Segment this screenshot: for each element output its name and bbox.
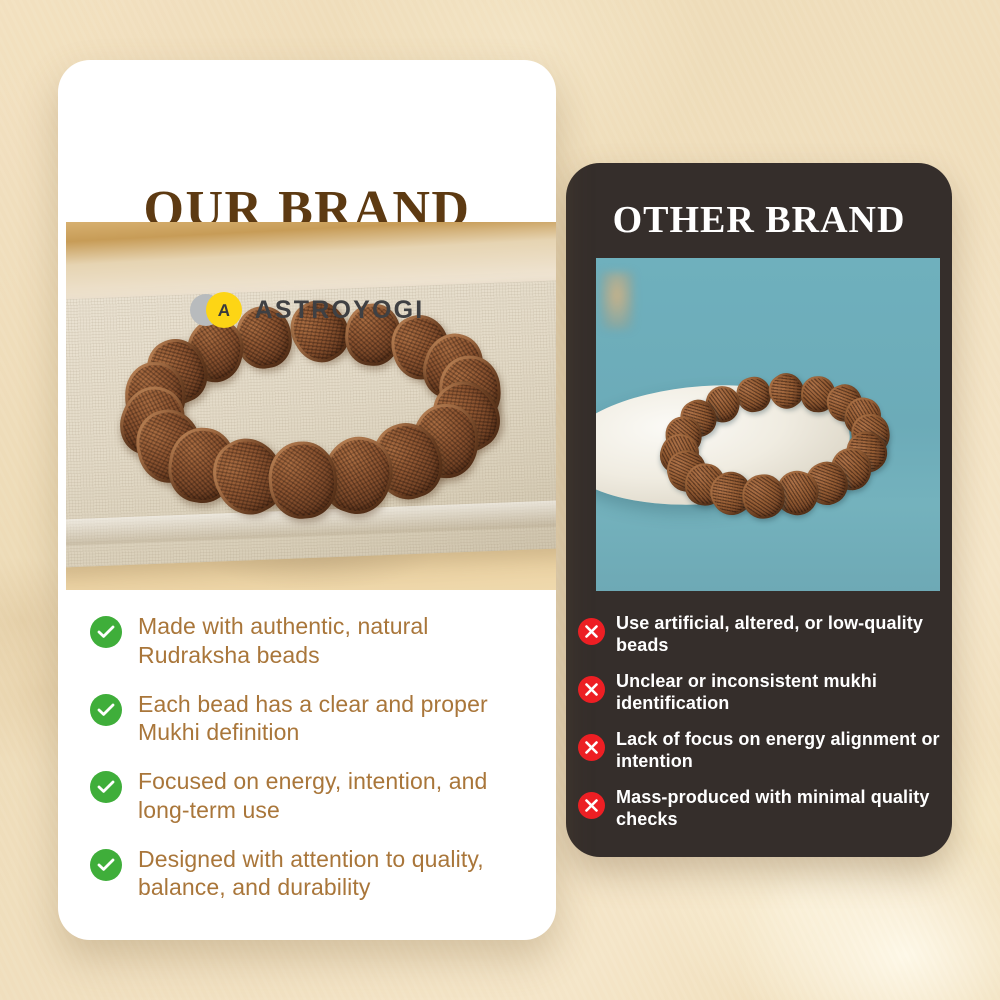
- blurred-background-object: [600, 272, 634, 330]
- other-brand-list-item-label: Mass-produced with minimal quality check…: [616, 787, 944, 831]
- our-brand-list-item-label: Focused on energy, intention, and long-t…: [138, 767, 542, 825]
- cross-icon: [578, 792, 605, 819]
- astroyogi-wordmark: ASTROYOGI: [255, 296, 425, 325]
- other-brand-list-item: Lack of focus on energy alignment or int…: [578, 729, 944, 773]
- other-brand-product-image: [596, 258, 940, 591]
- our-brand-list-item-label: Designed with attention to quality, bala…: [138, 845, 542, 903]
- check-icon: [90, 694, 122, 726]
- our-brand-product-image: [66, 222, 556, 590]
- our-bracelet: [106, 301, 515, 512]
- cross-icon: [578, 676, 605, 703]
- check-icon: [90, 849, 122, 881]
- our-brand-list-item: Focused on energy, intention, and long-t…: [90, 767, 542, 825]
- cross-icon: [578, 734, 605, 761]
- other-brand-title: OTHER BRAND: [566, 163, 952, 239]
- cross-icon: [578, 618, 605, 645]
- our-brand-list-item: Designed with attention to quality, bala…: [90, 845, 542, 903]
- our-brand-list-item: Each bead has a clear and proper Mukhi d…: [90, 690, 542, 748]
- astroyogi-logo: A ASTROYOGI: [58, 292, 556, 328]
- our-brand-list-item-label: Made with authentic, natural Rudraksha b…: [138, 612, 542, 670]
- our-brand-title: OUR BRAND: [58, 60, 556, 236]
- other-brand-list-item: Unclear or inconsistent mukhi identifica…: [578, 671, 944, 715]
- other-brand-card: OTHER BRAND Use artificial, altered, or …: [566, 163, 952, 857]
- our-brand-list-item: Made with authentic, natural Rudraksha b…: [90, 612, 542, 670]
- logo-monogram: A: [217, 302, 229, 319]
- other-brand-list: Use artificial, altered, or low-quality …: [578, 613, 944, 845]
- our-brand-list-item-label: Each bead has a clear and proper Mukhi d…: [138, 690, 542, 748]
- logo-yellow-circle-icon: A: [206, 292, 242, 328]
- other-brand-list-item: Use artificial, altered, or low-quality …: [578, 613, 944, 657]
- our-brand-list: Made with authentic, natural Rudraksha b…: [90, 612, 542, 922]
- other-brand-list-item: Mass-produced with minimal quality check…: [578, 787, 944, 831]
- other-brand-list-item-label: Unclear or inconsistent mukhi identifica…: [616, 671, 944, 715]
- other-brand-list-item-label: Lack of focus on energy alignment or int…: [616, 729, 944, 773]
- other-brand-list-item-label: Use artificial, altered, or low-quality …: [616, 613, 944, 657]
- astroyogi-logo-icon: A: [190, 292, 244, 328]
- other-bracelet: [644, 356, 907, 533]
- check-icon: [90, 616, 122, 648]
- rudraksha-bead: [733, 375, 773, 416]
- our-brand-card: OUR BRAND A ASTROYOGI Made with authenti…: [58, 60, 556, 940]
- check-icon: [90, 771, 122, 803]
